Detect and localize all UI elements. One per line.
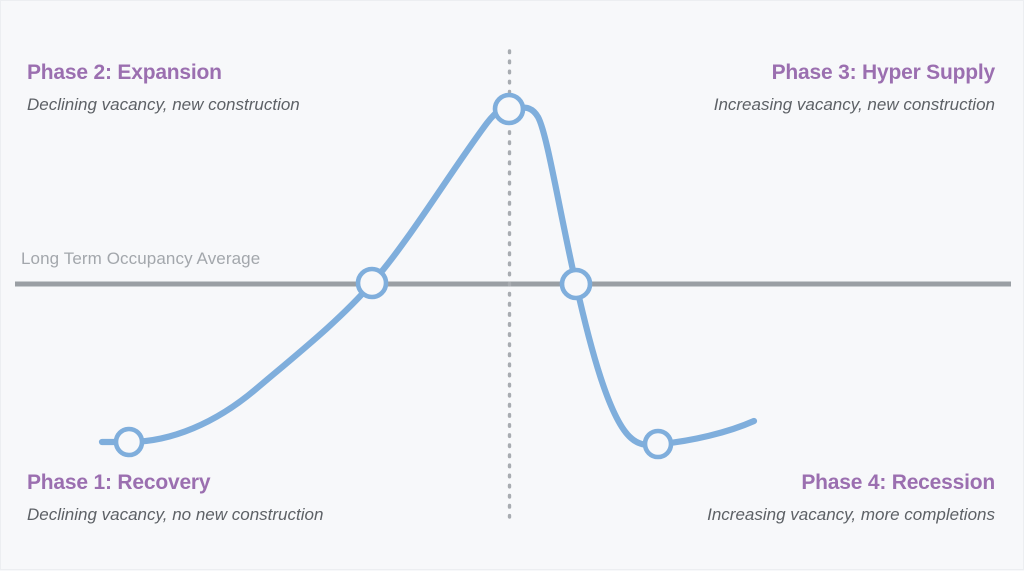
long-term-average-label: Long Term Occupancy Average <box>21 249 260 269</box>
marker-trough <box>645 431 671 457</box>
marker-average-crossing-rising <box>358 269 386 297</box>
phase-3-title: Phase 3: Hyper Supply <box>714 61 995 85</box>
phase-4-block: Phase 4: Recession Increasing vacancy, m… <box>707 471 995 526</box>
phase-4-title: Phase 4: Recession <box>707 471 995 495</box>
phase-3-block: Phase 3: Hyper Supply Increasing vacancy… <box>714 61 995 116</box>
phase-3-description: Increasing vacancy, new construction <box>714 94 995 116</box>
phase-1-block: Phase 1: Recovery Declining vacancy, no … <box>27 471 323 526</box>
curve-markers <box>116 95 671 457</box>
phase-2-block: Phase 2: Expansion Declining vacancy, ne… <box>27 61 300 116</box>
phase-1-title: Phase 1: Recovery <box>27 471 323 495</box>
phase-4-description: Increasing vacancy, more completions <box>707 504 995 526</box>
marker-average-crossing-falling <box>562 270 590 298</box>
marker-peak <box>495 95 523 123</box>
market-cycle-curve <box>102 107 754 445</box>
market-cycle-diagram: Long Term Occupancy Average Phase 2: Exp… <box>0 0 1024 570</box>
marker-phase1-start <box>116 429 142 455</box>
phase-2-description: Declining vacancy, new construction <box>27 94 300 116</box>
phase-2-title: Phase 2: Expansion <box>27 61 300 85</box>
phase-1-description: Declining vacancy, no new construction <box>27 504 323 526</box>
